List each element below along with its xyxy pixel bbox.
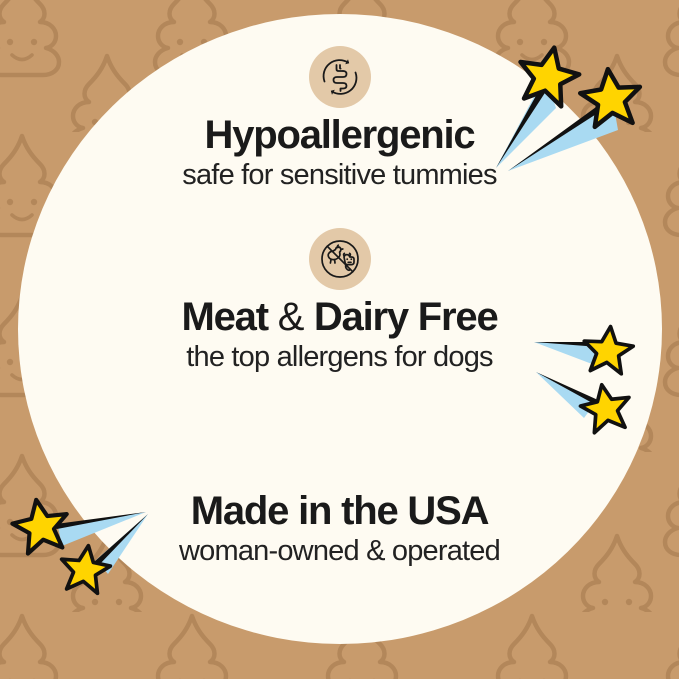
feature-headline: Meat & Dairy Free [0, 296, 679, 339]
feature-subline: the top allergens for dogs [0, 341, 679, 373]
feature-headline: Hypoallergenic [0, 114, 679, 157]
subline-part1: woman-owned [179, 535, 366, 567]
feature-list: Hypoallergenic safe for sensitive tummie… [0, 0, 679, 679]
feature-meat-dairy-free: Meat & Dairy Free the top allergens for … [0, 228, 679, 374]
feature-subline: woman-owned & operated [0, 535, 679, 567]
headline-part2: Dairy Free [304, 295, 498, 339]
feature-subline: safe for sensitive tummies [0, 159, 679, 191]
feature-made-in-usa: Made in the USA woman-owned & operated [0, 490, 679, 568]
feature-headline: Made in the USA [0, 490, 679, 533]
feature-hypoallergenic: Hypoallergenic safe for sensitive tummie… [0, 46, 679, 192]
headline-ampersand: & [278, 295, 304, 339]
headline-part1: Meat [181, 295, 277, 339]
subline-part2: operated [385, 535, 500, 567]
no-meat-dairy-icon [309, 228, 371, 290]
subline-ampersand: & [366, 535, 385, 567]
intestine-refresh-icon [309, 46, 371, 108]
promo-graphic: Hypoallergenic safe for sensitive tummie… [0, 0, 679, 679]
